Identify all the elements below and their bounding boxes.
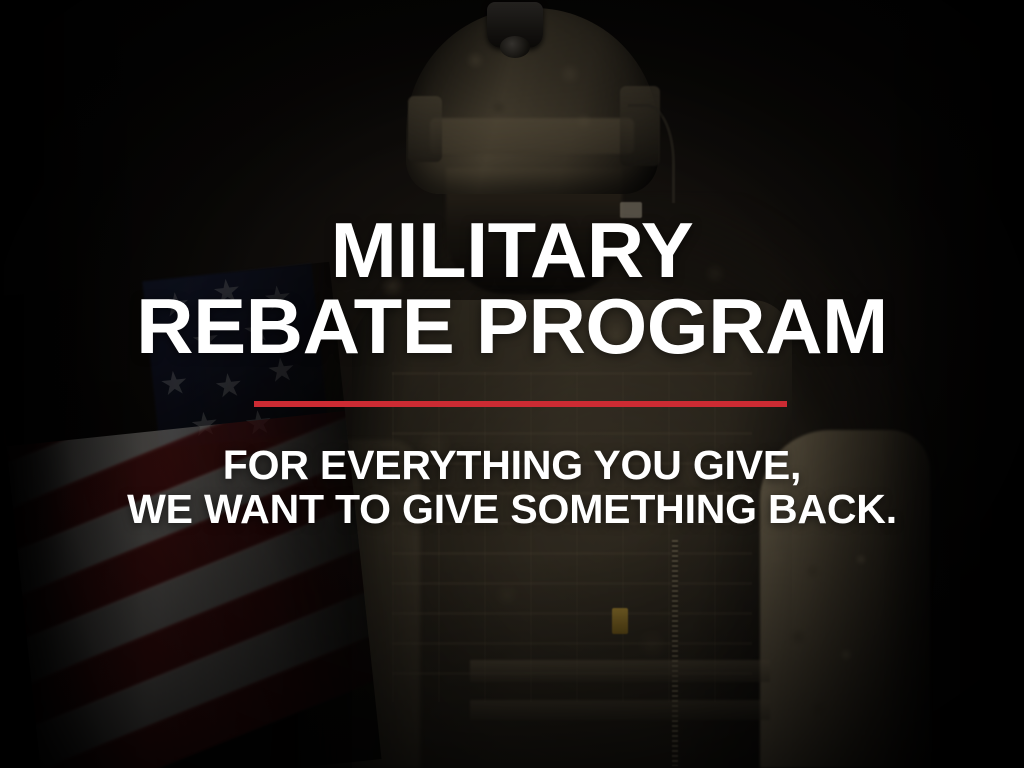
military-rebate-poster: MILITARY REBATE PROGRAM FOR EVERYTHING Y…	[0, 0, 1024, 768]
page-title: MILITARY REBATE PROGRAM	[0, 212, 1024, 365]
subheadline-line-2: WE WANT TO GIVE SOMETHING BACK.	[0, 487, 1024, 531]
headline-line-2: REBATE PROGRAM	[0, 288, 1024, 364]
headline-line-1: MILITARY	[0, 212, 1024, 288]
subheadline: FOR EVERYTHING YOU GIVE, WE WANT TO GIVE…	[0, 443, 1024, 532]
red-accent-rule	[254, 401, 787, 407]
subheadline-line-1: FOR EVERYTHING YOU GIVE,	[0, 443, 1024, 487]
text-overlay: MILITARY REBATE PROGRAM FOR EVERYTHING Y…	[0, 0, 1024, 768]
